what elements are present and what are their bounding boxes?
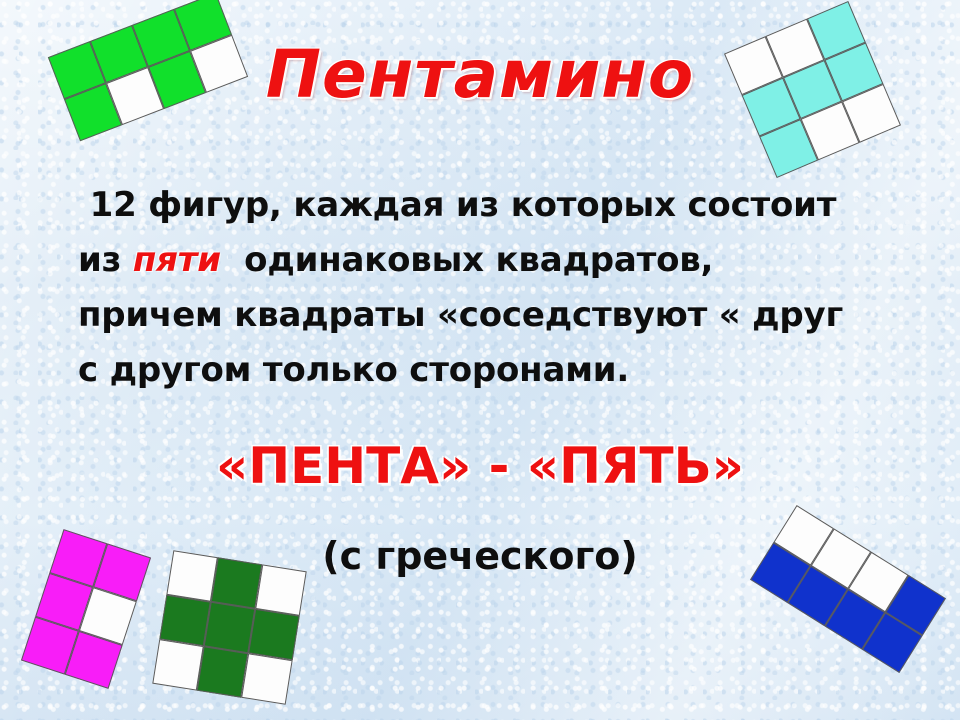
pentomino-cell-empty: [152, 639, 203, 690]
definition-line-2: из пяти одинаковых квадратов,: [78, 233, 890, 288]
definition-line-3: причем квадраты «соседствуют « друг: [78, 288, 890, 343]
cyan-z-pentomino: [724, 1, 901, 178]
accent-word-pyati: пяти: [133, 240, 221, 280]
pentomino-cell-filled: [204, 602, 255, 653]
blue-l-pentomino: [750, 505, 946, 673]
definition-line-1: 12 фигур, каждая из которых состоит: [78, 178, 890, 233]
definition-line-2-suffix: одинаковых квадратов,: [221, 240, 713, 280]
page-title: Пентамино: [266, 42, 695, 108]
definition-line-4: с другом только сторонами.: [78, 343, 890, 398]
green-t-pentomino: [48, 0, 248, 141]
definition-paragraph: 12 фигур, каждая из которых состоит из п…: [78, 178, 890, 398]
pentomino-cell-empty: [241, 653, 292, 704]
pentomino-cell-filled: [197, 646, 248, 697]
etymology-source-note: (с греческого): [322, 537, 638, 577]
definition-line-2-prefix: из: [78, 240, 133, 280]
etymology-headline: «ПЕНТА» - «ПЯТЬ»: [216, 440, 744, 493]
headline-container: «ПЕНТА» - «ПЯТЬ»: [0, 440, 960, 493]
pentomino-cell-filled: [159, 595, 210, 646]
pentomino-slide: Пентамино 12 фигур, каждая из которых со…: [0, 0, 960, 720]
subnote-container: (с греческого): [0, 537, 960, 577]
pentomino-cell-filled: [248, 609, 299, 660]
